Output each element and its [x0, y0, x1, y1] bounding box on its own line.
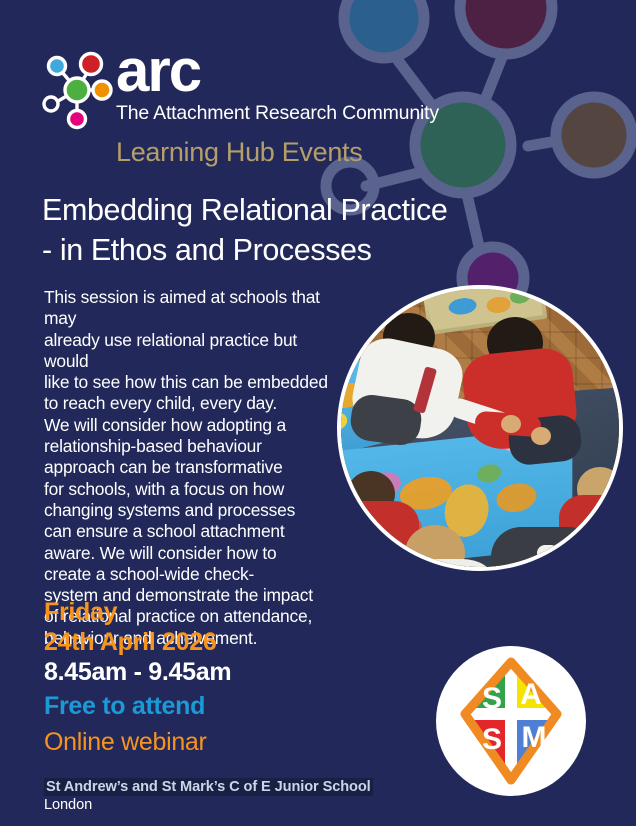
event-date: 24th April 2026	[44, 627, 344, 657]
page-title-line-2: - in Ethos and Processes	[42, 230, 542, 270]
sock-right	[563, 547, 585, 571]
description-line: changing systems and processes	[44, 500, 344, 521]
description-line: relationship-based behaviour	[44, 436, 344, 457]
school-crest-diamond-icon: S A S M	[436, 646, 586, 796]
crest-letter-s-bottom: S	[482, 723, 502, 756]
hand-right	[531, 427, 551, 445]
description-line: can ensure a school attachment	[44, 521, 344, 542]
event-details: Friday 24th April 2026 8.45am - 9.45am F…	[44, 598, 344, 761]
brand-logo-block: arc The Attachment Research Community	[40, 44, 439, 132]
description-line: for schools, with a focus on how	[44, 479, 344, 500]
description-line: already use relational practice but woul…	[44, 330, 344, 373]
description-line: approach can be transformative	[44, 457, 344, 478]
arc-network-node-logo-icon	[40, 48, 114, 132]
crest-letter-s-top: S	[482, 682, 502, 715]
brand-name: arc	[116, 44, 439, 98]
event-time: 8.45am - 9.45am	[44, 657, 344, 688]
crest-letter-m: M	[522, 721, 547, 754]
school-city: London	[44, 797, 373, 813]
school-crest: S A S M	[436, 646, 586, 796]
session-photo	[337, 285, 623, 571]
brand-text-block: arc The Attachment Research Community	[116, 44, 439, 125]
session-description: This session is aimed at schools that ma…	[44, 287, 344, 649]
crest-letter-a: A	[520, 678, 542, 711]
photo-scene	[341, 289, 619, 567]
hand-left	[501, 415, 521, 433]
school-name: St Andrew’s and St Mark’s C of E Junior …	[44, 778, 373, 796]
description-line: to reach every child, every day.	[44, 393, 344, 414]
venue-footer: St Andrew’s and St Mark’s C of E Junior …	[44, 778, 373, 813]
brand-tagline: The Attachment Research Community	[116, 102, 439, 125]
description-line: create a school-wide check-	[44, 564, 344, 585]
event-price: Free to attend	[44, 688, 344, 724]
page-title: Embedding Relational Practice - in Ethos…	[42, 190, 542, 270]
event-poster: arc The Attachment Research Community Le…	[0, 0, 636, 826]
description-line: aware. We will consider how to	[44, 543, 344, 564]
page-title-line-1: Embedding Relational Practice	[42, 190, 542, 230]
description-line: like to see how this can be embedded	[44, 372, 344, 393]
event-mode: Online webinar	[44, 724, 344, 761]
description-line: We will consider how adopting a	[44, 415, 344, 436]
event-series-label: Learning Hub Events	[116, 137, 362, 168]
sock-left	[537, 545, 559, 571]
description-line: This session is aimed at schools that ma…	[44, 287, 344, 330]
event-day: Friday	[44, 598, 344, 627]
